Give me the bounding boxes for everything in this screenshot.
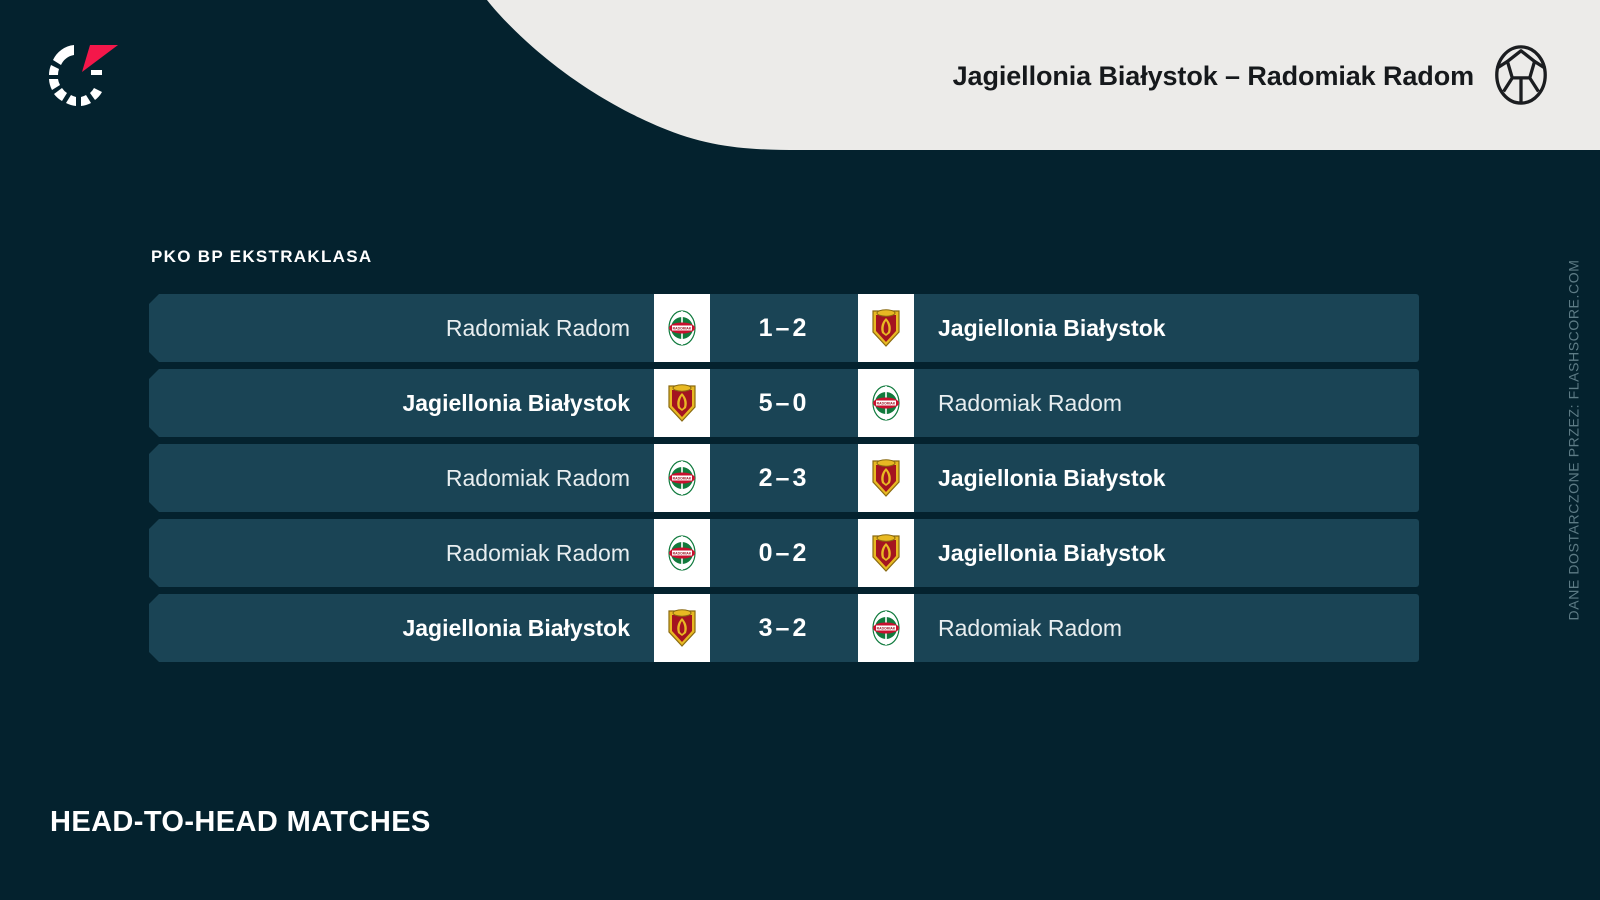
score-separator: –	[776, 314, 793, 342]
match-score: 1–2	[710, 314, 858, 343]
section-title: HEAD-TO-HEAD MATCHES	[50, 806, 431, 839]
match-score: 0–2	[710, 539, 858, 568]
score-separator: –	[776, 614, 793, 642]
match-score: 5–0	[710, 389, 858, 418]
home-team-crest-tile	[654, 369, 710, 437]
away-team-name: Radomiak Radom	[914, 390, 1419, 417]
page-title: Jagiellonia Białystok – Radomiak Radom	[953, 0, 1474, 152]
match-row[interactable]: Radomiak RadomRADOMIAK2–3Jagiellonia Bia…	[149, 444, 1419, 512]
svg-text:RADOMIAK: RADOMIAK	[877, 627, 896, 631]
home-team-name: Radomiak Radom	[149, 465, 654, 492]
flashscore-logo	[44, 36, 128, 112]
league-name: PKO BP EKSTRAKLASA	[151, 247, 372, 267]
home-score: 2	[759, 464, 776, 492]
data-provider-credit: DANE DOSTARCZONE PRZEZ: FLASHSCORE.COM	[1556, 235, 1590, 645]
away-team-name: Jagiellonia Białystok	[914, 540, 1419, 567]
jagiellonia-crest	[869, 533, 903, 573]
away-team-name: Jagiellonia Białystok	[914, 465, 1419, 492]
home-score: 0	[759, 539, 776, 567]
match-row[interactable]: Jagiellonia Białystok3–2RADOMIAKRadomiak…	[149, 594, 1419, 662]
away-team-crest-tile: RADOMIAK	[858, 594, 914, 662]
home-team-crest-tile: RADOMIAK	[654, 519, 710, 587]
head-to-head-match-list: Radomiak RadomRADOMIAK1–2Jagiellonia Bia…	[149, 294, 1419, 669]
svg-text:RADOMIAK: RADOMIAK	[877, 402, 896, 406]
home-team-name: Jagiellonia Białystok	[149, 390, 654, 417]
match-score: 2–3	[710, 464, 858, 493]
home-team-name: Radomiak Radom	[149, 540, 654, 567]
match-score: 3–2	[710, 614, 858, 643]
away-team-crest-tile: RADOMIAK	[858, 369, 914, 437]
data-provider-credit-text: DANE DOSTARCZONE PRZEZ: FLASHSCORE.COM	[1565, 260, 1581, 621]
radomiak-crest: RADOMIAK	[869, 383, 903, 423]
header-bar: Jagiellonia Białystok – Radomiak Radom	[0, 0, 1600, 152]
score-separator: –	[776, 539, 793, 567]
away-team-crest-tile	[858, 519, 914, 587]
jagiellonia-crest	[665, 608, 699, 648]
away-score: 2	[792, 539, 809, 567]
match-row[interactable]: Jagiellonia Białystok5–0RADOMIAKRadomiak…	[149, 369, 1419, 437]
svg-text:RADOMIAK: RADOMIAK	[673, 552, 692, 556]
score-separator: –	[776, 389, 793, 417]
away-score: 0	[792, 389, 809, 417]
match-row[interactable]: Radomiak RadomRADOMIAK1–2Jagiellonia Bia…	[149, 294, 1419, 362]
away-team-crest-tile	[858, 294, 914, 362]
away-team-name: Radomiak Radom	[914, 615, 1419, 642]
screen-root: Jagiellonia Białystok – Radomiak Radom P…	[0, 0, 1600, 900]
radomiak-crest: RADOMIAK	[665, 308, 699, 348]
home-team-crest-tile	[654, 594, 710, 662]
away-score: 2	[792, 614, 809, 642]
jagiellonia-crest	[869, 458, 903, 498]
home-team-name: Jagiellonia Białystok	[149, 615, 654, 642]
svg-text:RADOMIAK: RADOMIAK	[673, 477, 692, 481]
jagiellonia-crest	[665, 383, 699, 423]
jagiellonia-crest	[869, 308, 903, 348]
home-score: 5	[759, 389, 776, 417]
home-score: 1	[759, 314, 776, 342]
radomiak-crest: RADOMIAK	[869, 608, 903, 648]
away-team-crest-tile	[858, 444, 914, 512]
soccer-ball-icon	[1490, 44, 1552, 106]
score-separator: –	[776, 464, 793, 492]
home-score: 3	[759, 614, 776, 642]
radomiak-crest: RADOMIAK	[665, 458, 699, 498]
away-score: 3	[792, 464, 809, 492]
home-team-name: Radomiak Radom	[149, 315, 654, 342]
away-team-name: Jagiellonia Białystok	[914, 315, 1419, 342]
away-score: 2	[792, 314, 809, 342]
radomiak-crest: RADOMIAK	[665, 533, 699, 573]
home-team-crest-tile: RADOMIAK	[654, 294, 710, 362]
svg-text:RADOMIAK: RADOMIAK	[673, 327, 692, 331]
match-row[interactable]: Radomiak RadomRADOMIAK0–2Jagiellonia Bia…	[149, 519, 1419, 587]
home-team-crest-tile: RADOMIAK	[654, 444, 710, 512]
